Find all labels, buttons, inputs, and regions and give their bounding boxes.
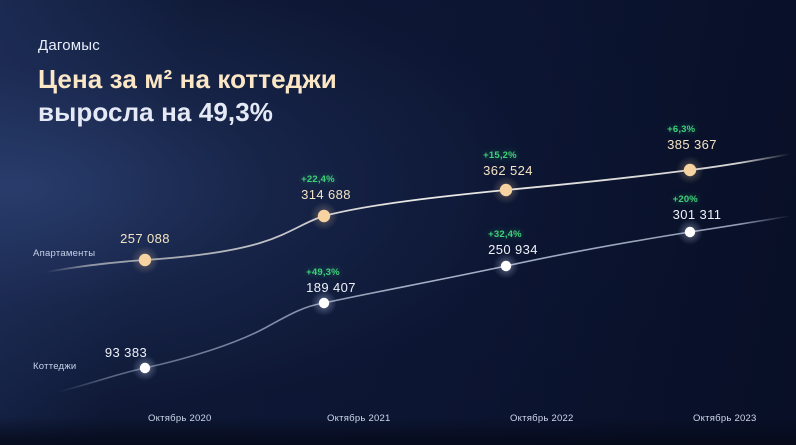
data-value: 250 934 xyxy=(488,242,538,257)
data-label-cottages-2020: 93 383 xyxy=(105,345,147,360)
data-label-cottages-2023: +20% 301 311 xyxy=(673,194,722,222)
data-label-apartments-2020: 257 088 xyxy=(120,231,170,246)
location-eyebrow: Дагомыс xyxy=(38,38,337,55)
apartments-markers xyxy=(131,156,704,274)
data-value: 362 524 xyxy=(483,163,533,178)
cottages-markers xyxy=(132,219,703,381)
growth-badge: +15,2% xyxy=(483,150,533,161)
data-label-apartments-2023: +6,3% 385 367 xyxy=(667,124,717,152)
growth-badge: +32,4% xyxy=(488,229,538,240)
gridlines xyxy=(145,172,690,405)
chart-slide: Дагомыс Цена за м² на коттеджи выросла н… xyxy=(0,0,796,445)
x-axis-tick-2022: Октябрь 2022 xyxy=(510,413,574,424)
x-axis-tick-2020: Октябрь 2020 xyxy=(148,413,212,424)
data-label-cottages-2021: +49,3% 189 407 xyxy=(306,267,356,295)
growth-badge: +22,4% xyxy=(301,174,351,185)
x-axis-tick-2023: Октябрь 2023 xyxy=(693,413,757,424)
data-value: 385 367 xyxy=(667,137,717,152)
growth-badge: +20% xyxy=(673,194,722,205)
growth-badge: +6,3% xyxy=(667,124,717,135)
data-value: 314 688 xyxy=(301,187,351,202)
header-block: Дагомыс Цена за м² на коттеджи выросла н… xyxy=(38,38,337,129)
data-value: 93 383 xyxy=(105,345,147,360)
page-title-line-1: Цена за м² на коттеджи xyxy=(38,63,337,96)
data-label-cottages-2022: +32,4% 250 934 xyxy=(488,229,538,257)
series-label-cottages: Коттеджи xyxy=(33,361,76,372)
page-title-line-2: выросла на 49,3% xyxy=(38,96,337,129)
data-label-apartments-2021: +22,4% 314 688 xyxy=(301,174,351,202)
x-axis-tick-2021: Октябрь 2021 xyxy=(327,413,391,424)
data-value: 301 311 xyxy=(673,207,722,222)
page-title: Цена за м² на коттеджи выросла на 49,3% xyxy=(38,63,337,130)
data-label-apartments-2022: +15,2% 362 524 xyxy=(483,150,533,178)
growth-badge: +49,3% xyxy=(306,267,356,278)
series-label-apartments: Апартаменты xyxy=(33,248,95,259)
data-value: 189 407 xyxy=(306,280,356,295)
data-value: 257 088 xyxy=(120,231,170,246)
